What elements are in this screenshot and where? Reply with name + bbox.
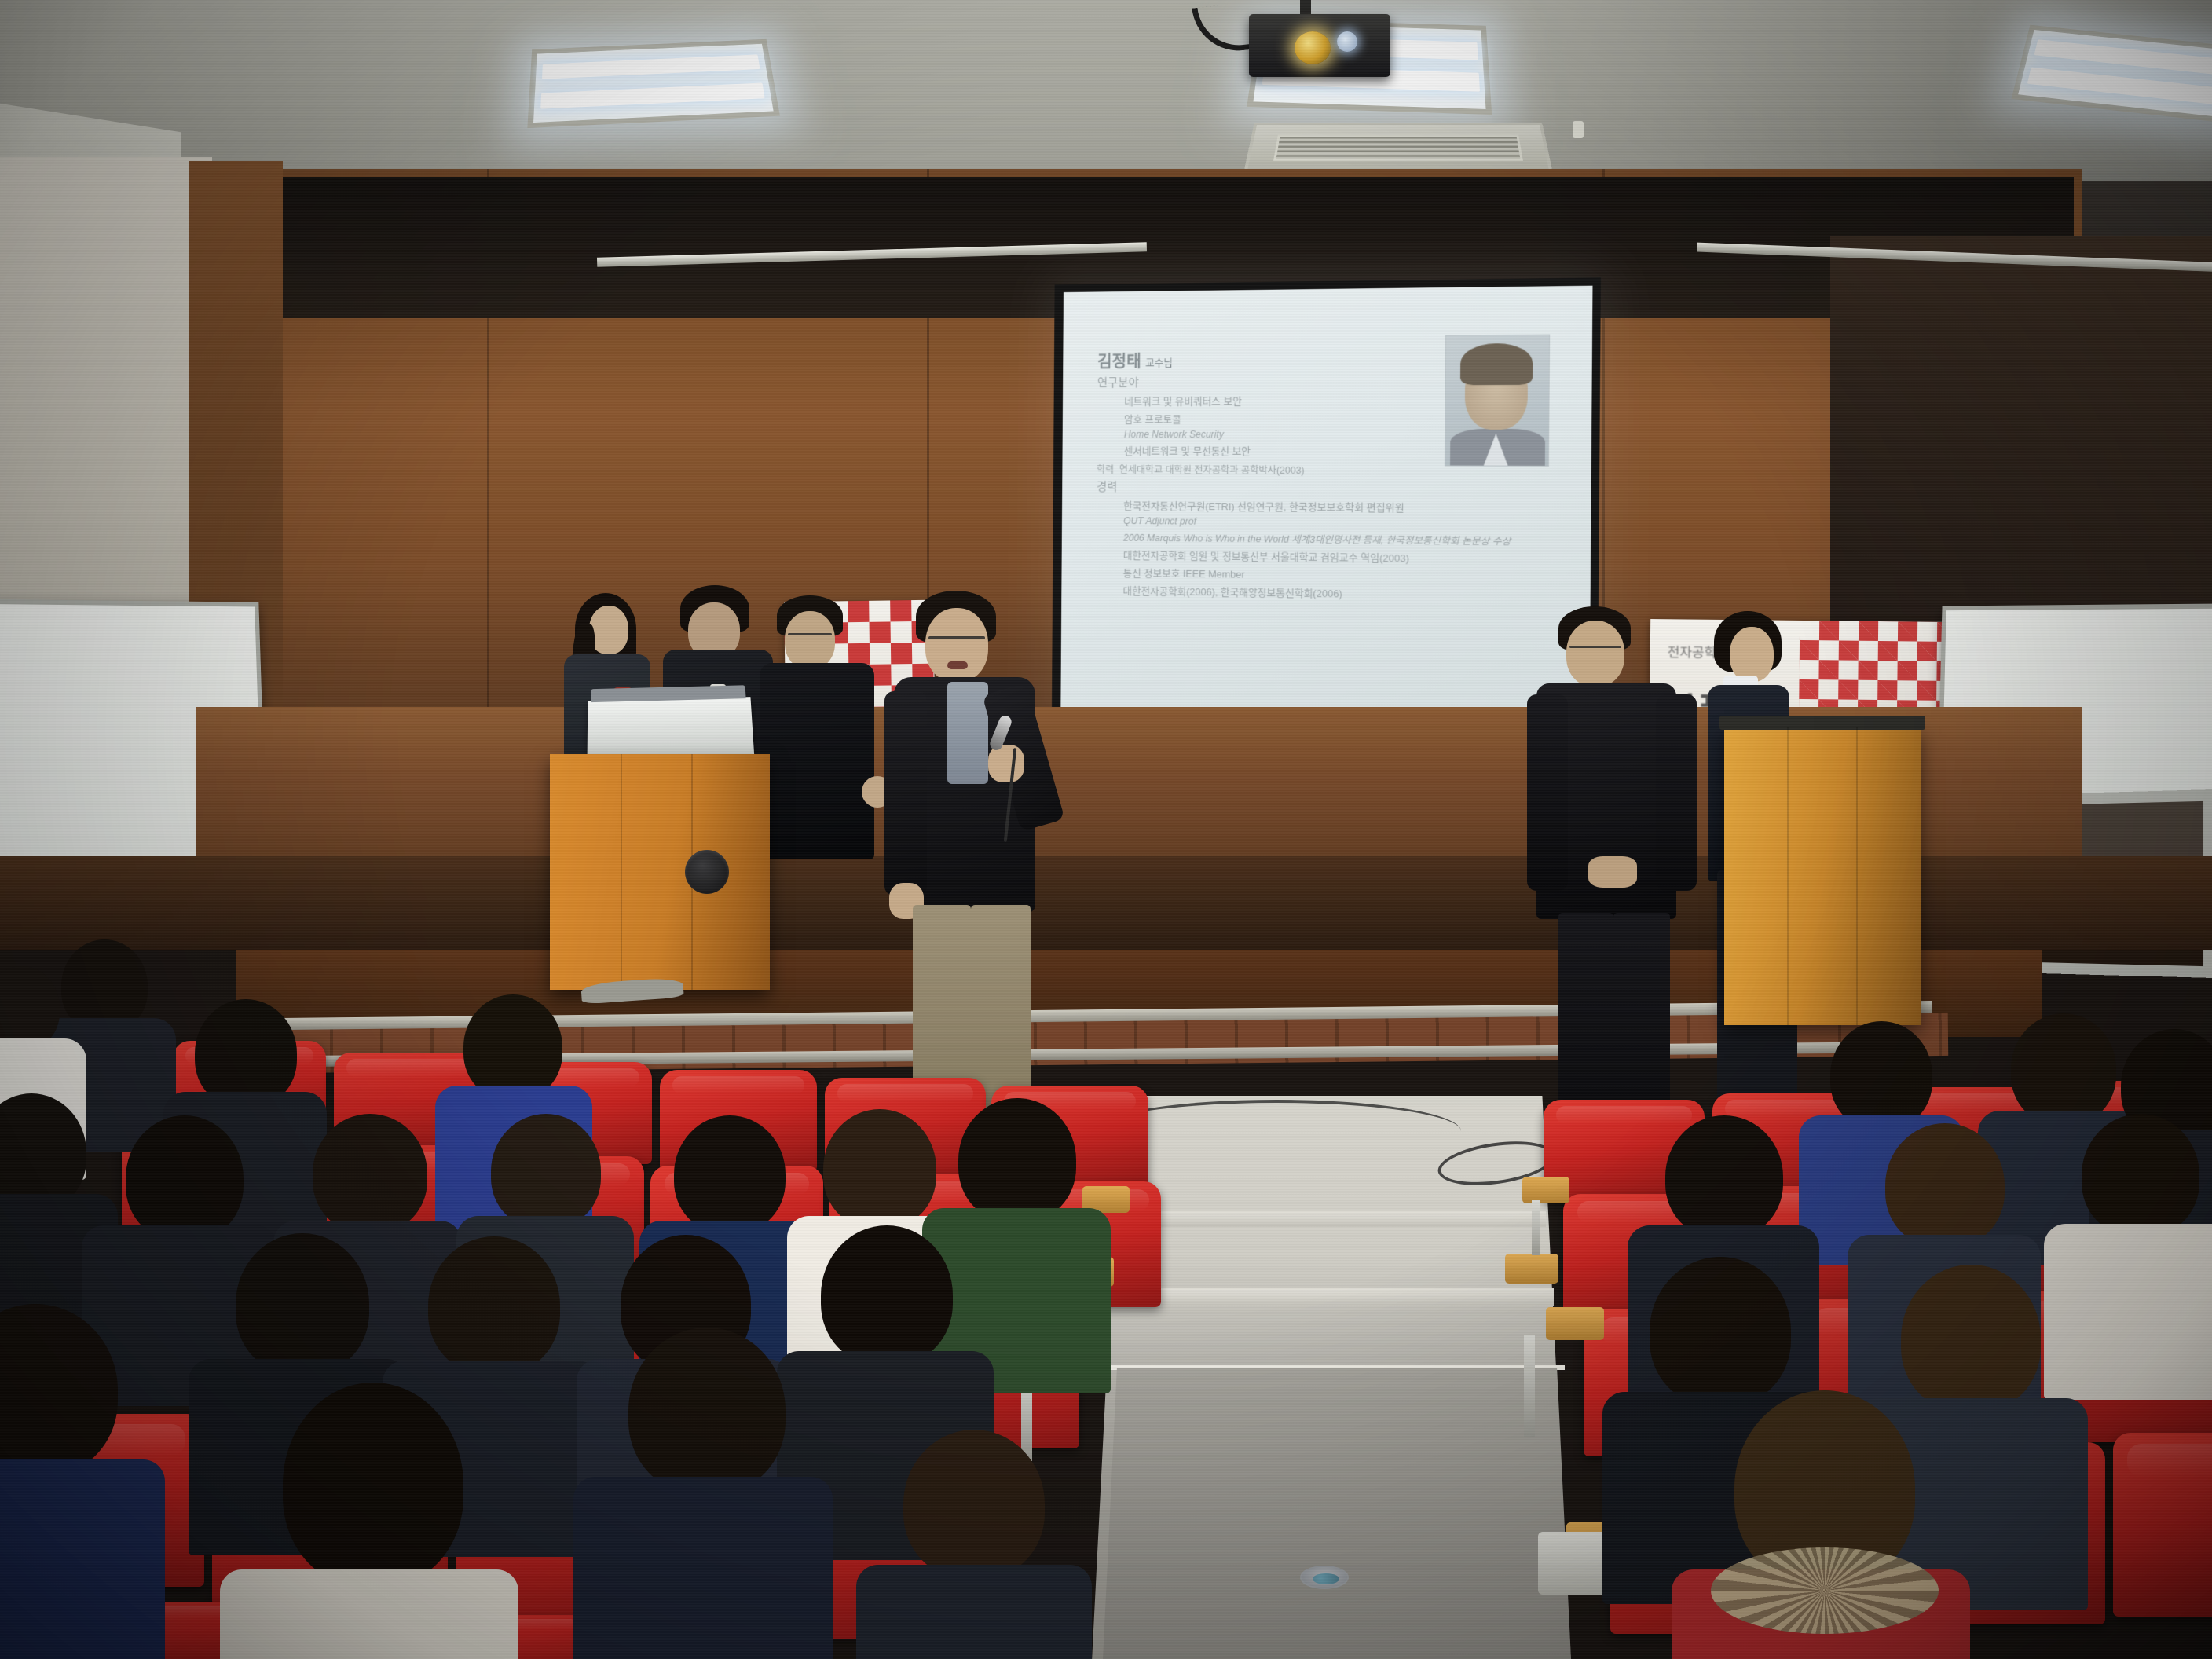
projection-screen: 김정태 교수님 연구분야 네트워크 및 유비쿼터스 보안 암호 프로토콜 Hom… xyxy=(1052,277,1601,752)
slide-research-item: 센서네트워크 및 무선통신 보안 xyxy=(1124,443,1469,459)
projector-indicator-icon xyxy=(1337,31,1357,52)
aisle-lower-floor xyxy=(1103,1368,1571,1659)
presenter-laptop[interactable] xyxy=(588,697,755,762)
projector-lens-icon xyxy=(1295,31,1331,64)
seat-armrest xyxy=(1522,1177,1569,1203)
lectern-emblem-icon xyxy=(685,850,729,894)
slide-text-block: 김정태 교수님 연구분야 네트워크 및 유비쿼터스 보안 암호 프로토콜 Hom… xyxy=(1096,346,1469,602)
slide-career-item: 2006 Marquis Who is Who in the World 세계3… xyxy=(1123,529,1468,548)
slide-career-item: QUT Adjunct prof xyxy=(1123,515,1468,529)
wooden-lectern-left xyxy=(550,754,770,990)
slide-section-career: 경력 xyxy=(1097,478,1468,496)
slide-research-item: Home Network Security xyxy=(1124,429,1469,440)
lecture-hall-photo: 김정태 교수님 연구분야 네트워크 및 유비쿼터스 보안 암호 프로토콜 Hom… xyxy=(0,0,2212,1659)
floor-power-outlet-icon xyxy=(1300,1566,1349,1589)
slide-section-education: 학력 연세대학교 대학원 전자공학과 공학박사(2003) xyxy=(1097,461,1468,477)
aisle-step xyxy=(1114,1288,1554,1306)
slide-professor-name: 김정태 교수님 xyxy=(1097,346,1469,372)
projector-icon xyxy=(1249,14,1390,77)
slide-career-item: 한국전자통신연구원(ETRI) 선임연구원, 한국정보보호학회 편집위원 xyxy=(1123,498,1468,515)
seat-armrest xyxy=(1546,1307,1604,1340)
sprinkler-icon xyxy=(1563,118,1595,138)
seat-post xyxy=(1524,1335,1535,1437)
slide-career-item: 대한전자공학회 임원 및 정보통신부 서울대학교 겸임교수 역임(2003) xyxy=(1123,547,1468,566)
slide-surface: 김정태 교수님 연구분야 네트워크 및 유비쿼터스 보안 암호 프로토콜 Hom… xyxy=(1060,286,1592,742)
slide-section-research: 연구분야 xyxy=(1097,372,1469,390)
slide-career-item: 통신 정보보호 IEEE Member xyxy=(1123,565,1468,584)
slide-research-item: 암호 프로토콜 xyxy=(1124,411,1469,426)
seat-post xyxy=(1532,1200,1540,1255)
fluorescent-light-panel-icon xyxy=(527,39,780,128)
auditorium-seat[interactable] xyxy=(2113,1433,2212,1617)
aisle-step xyxy=(1122,1211,1546,1227)
slide-career-item: 대한전자공학회(2006), 한국해양정보통신학회(2006) xyxy=(1123,583,1468,602)
air-vent-icon xyxy=(1243,123,1554,174)
seat-armrest xyxy=(1505,1254,1558,1284)
fur-hood-trim xyxy=(1711,1547,1939,1634)
wooden-lectern-right xyxy=(1724,727,1921,1025)
slide-research-item: 네트워크 및 유비쿼터스 보안 xyxy=(1124,392,1469,408)
